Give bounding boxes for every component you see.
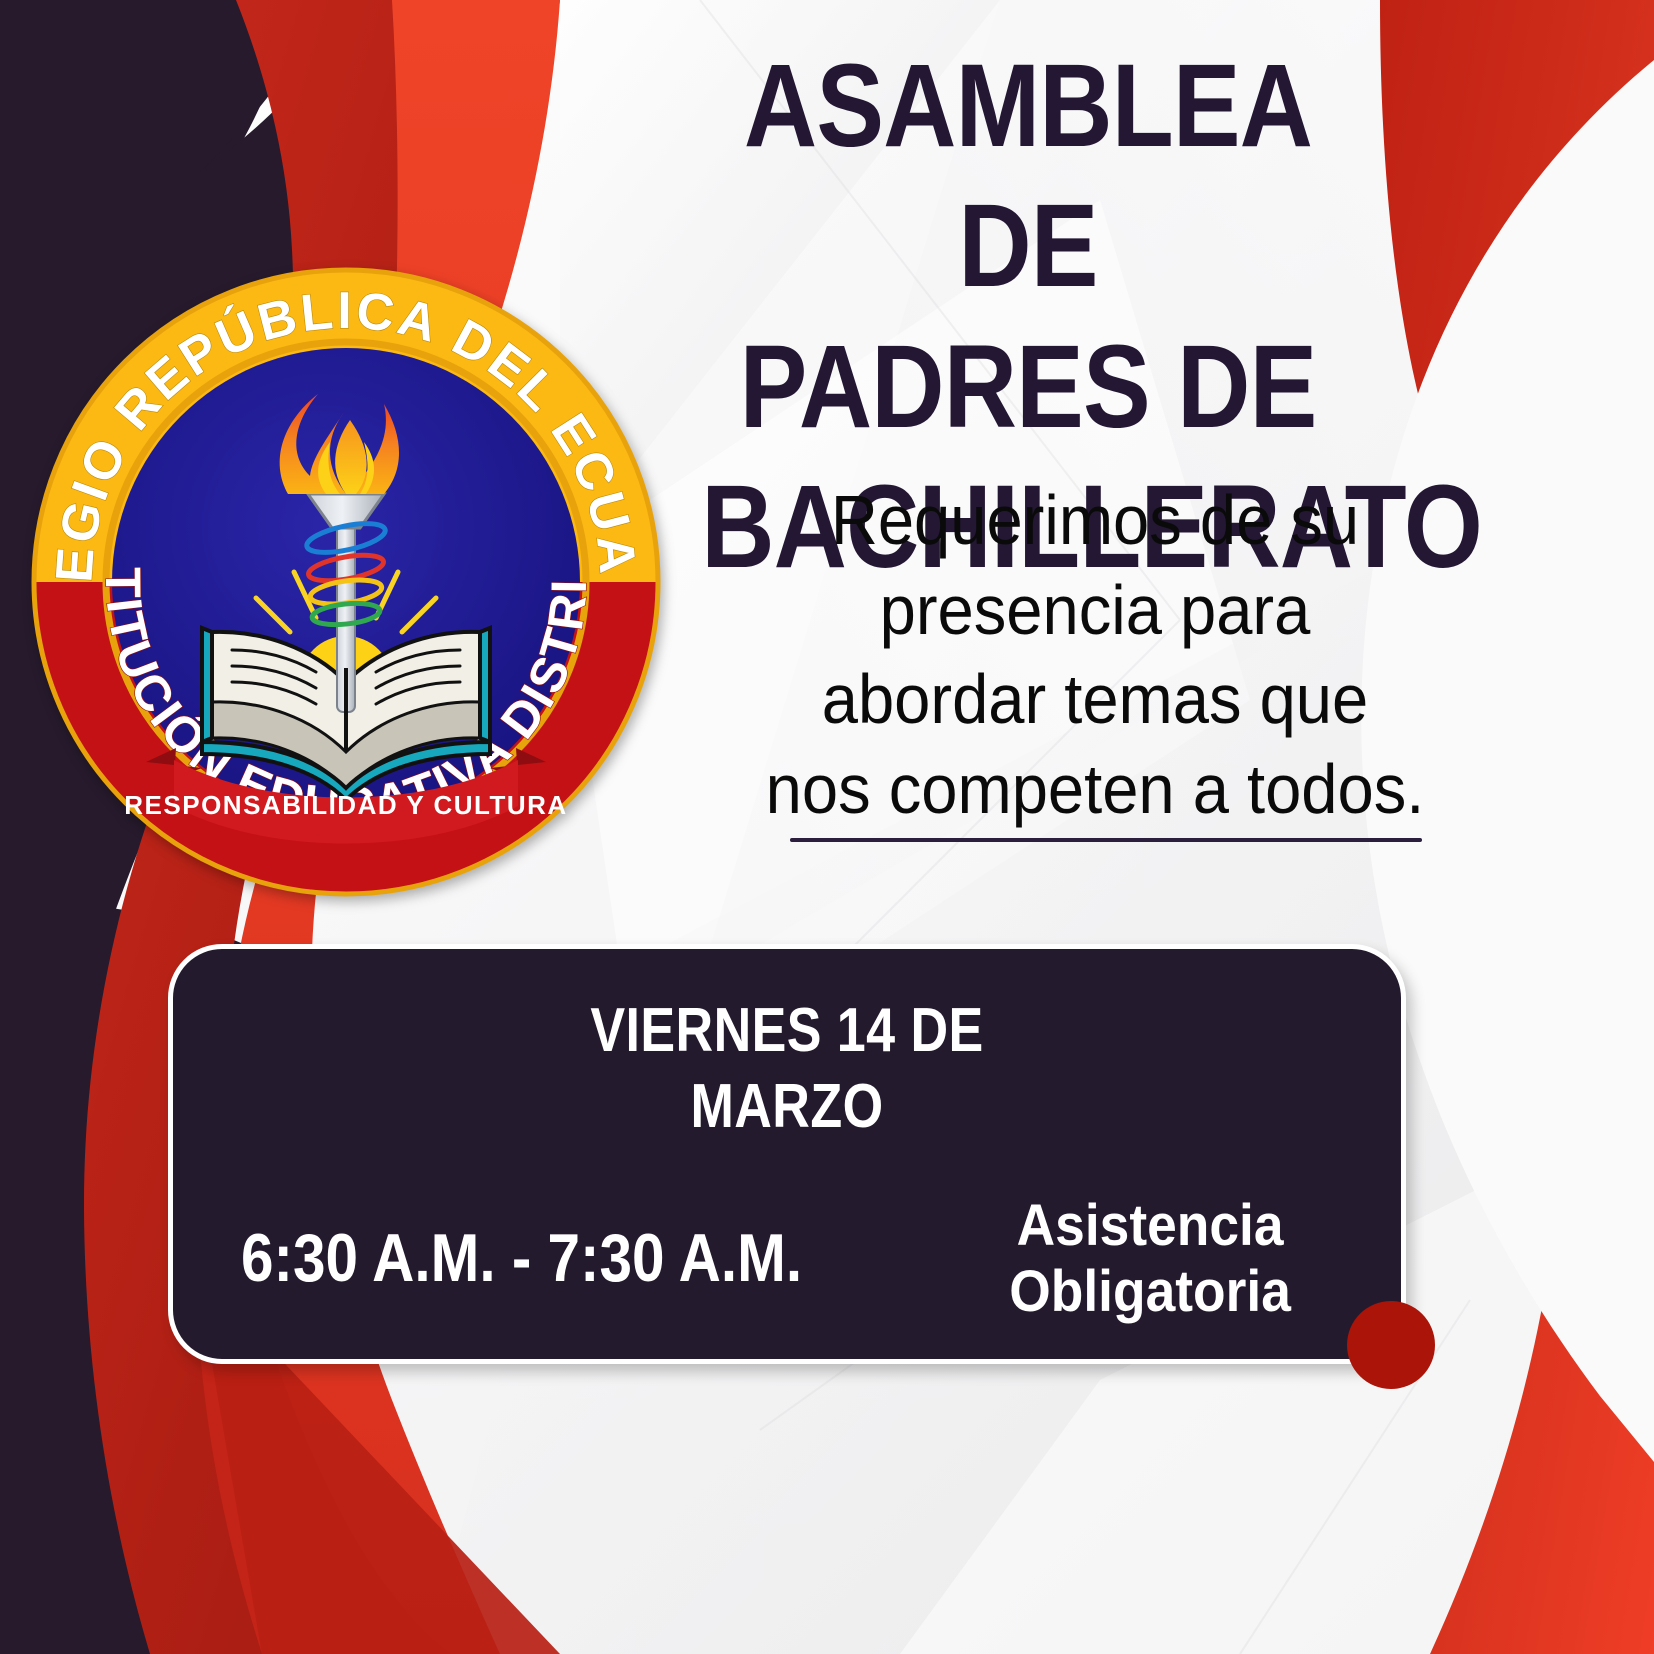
attendance-note: Asistencia Obligatoria	[1009, 1193, 1291, 1325]
body-line-2: presencia para	[728, 566, 1463, 656]
body-line-4: nos competen a todos.	[728, 745, 1463, 835]
event-date-line-2: MARZO	[271, 1069, 1303, 1145]
event-details-card: VIERNES 14 DE MARZO 6:30 A.M. - 7:30 A.M…	[168, 944, 1406, 1364]
attendance-note-line-2: Obligatoria	[1009, 1259, 1291, 1325]
event-time: 6:30 A.M. - 7:30 A.M.	[241, 1221, 802, 1296]
accent-dot	[1347, 1301, 1435, 1389]
headline-line-1: ASAMBLEA DE	[701, 36, 1355, 317]
event-card-footer: 6:30 A.M. - 7:30 A.M. Asistencia Obligat…	[173, 1193, 1401, 1325]
logo-banner-text: RESPONSABILIDAD Y CULTURA	[124, 790, 567, 820]
body-line-1: Requerimos de su	[728, 476, 1463, 566]
headline-line-2: PADRES DE	[701, 317, 1355, 457]
poster-canvas: COLEGIO REPÚBLICA DEL ECUADOR INSTITUCIÓ…	[0, 0, 1654, 1654]
event-date-line-1: VIERNES 14 DE	[271, 993, 1303, 1069]
event-date: VIERNES 14 DE MARZO	[271, 993, 1303, 1144]
body-copy: Requerimos de su presencia para abordar …	[728, 476, 1463, 834]
divider-rule	[790, 838, 1422, 842]
school-logo: COLEGIO REPÚBLICA DEL ECUADOR INSTITUCIÓ…	[26, 262, 666, 902]
body-line-3: abordar temas que	[728, 655, 1463, 745]
attendance-note-line-1: Asistencia	[1009, 1193, 1291, 1259]
